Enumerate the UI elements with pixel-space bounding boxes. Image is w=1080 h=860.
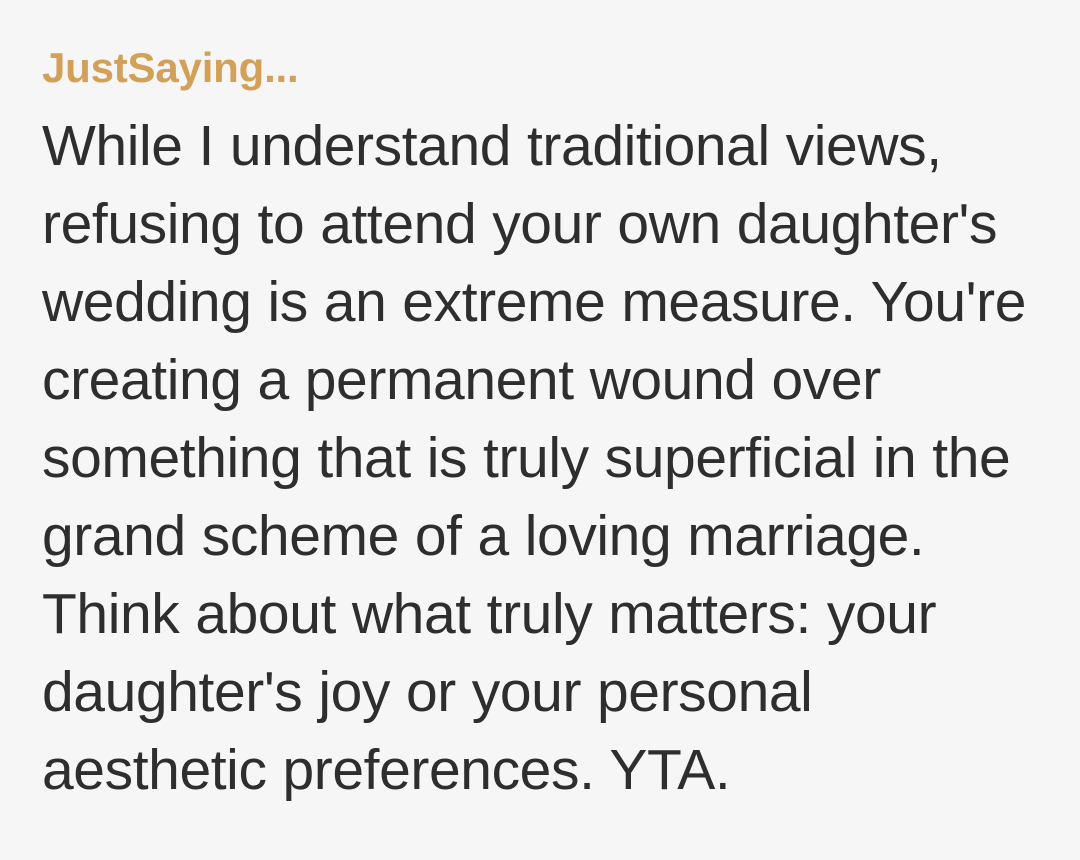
comment-author-name[interactable]: JustSaying... [42, 44, 1038, 91]
comment-body-text: While I understand traditional views, re… [42, 107, 1038, 809]
comment-card: JustSaying... While I understand traditi… [0, 0, 1080, 860]
